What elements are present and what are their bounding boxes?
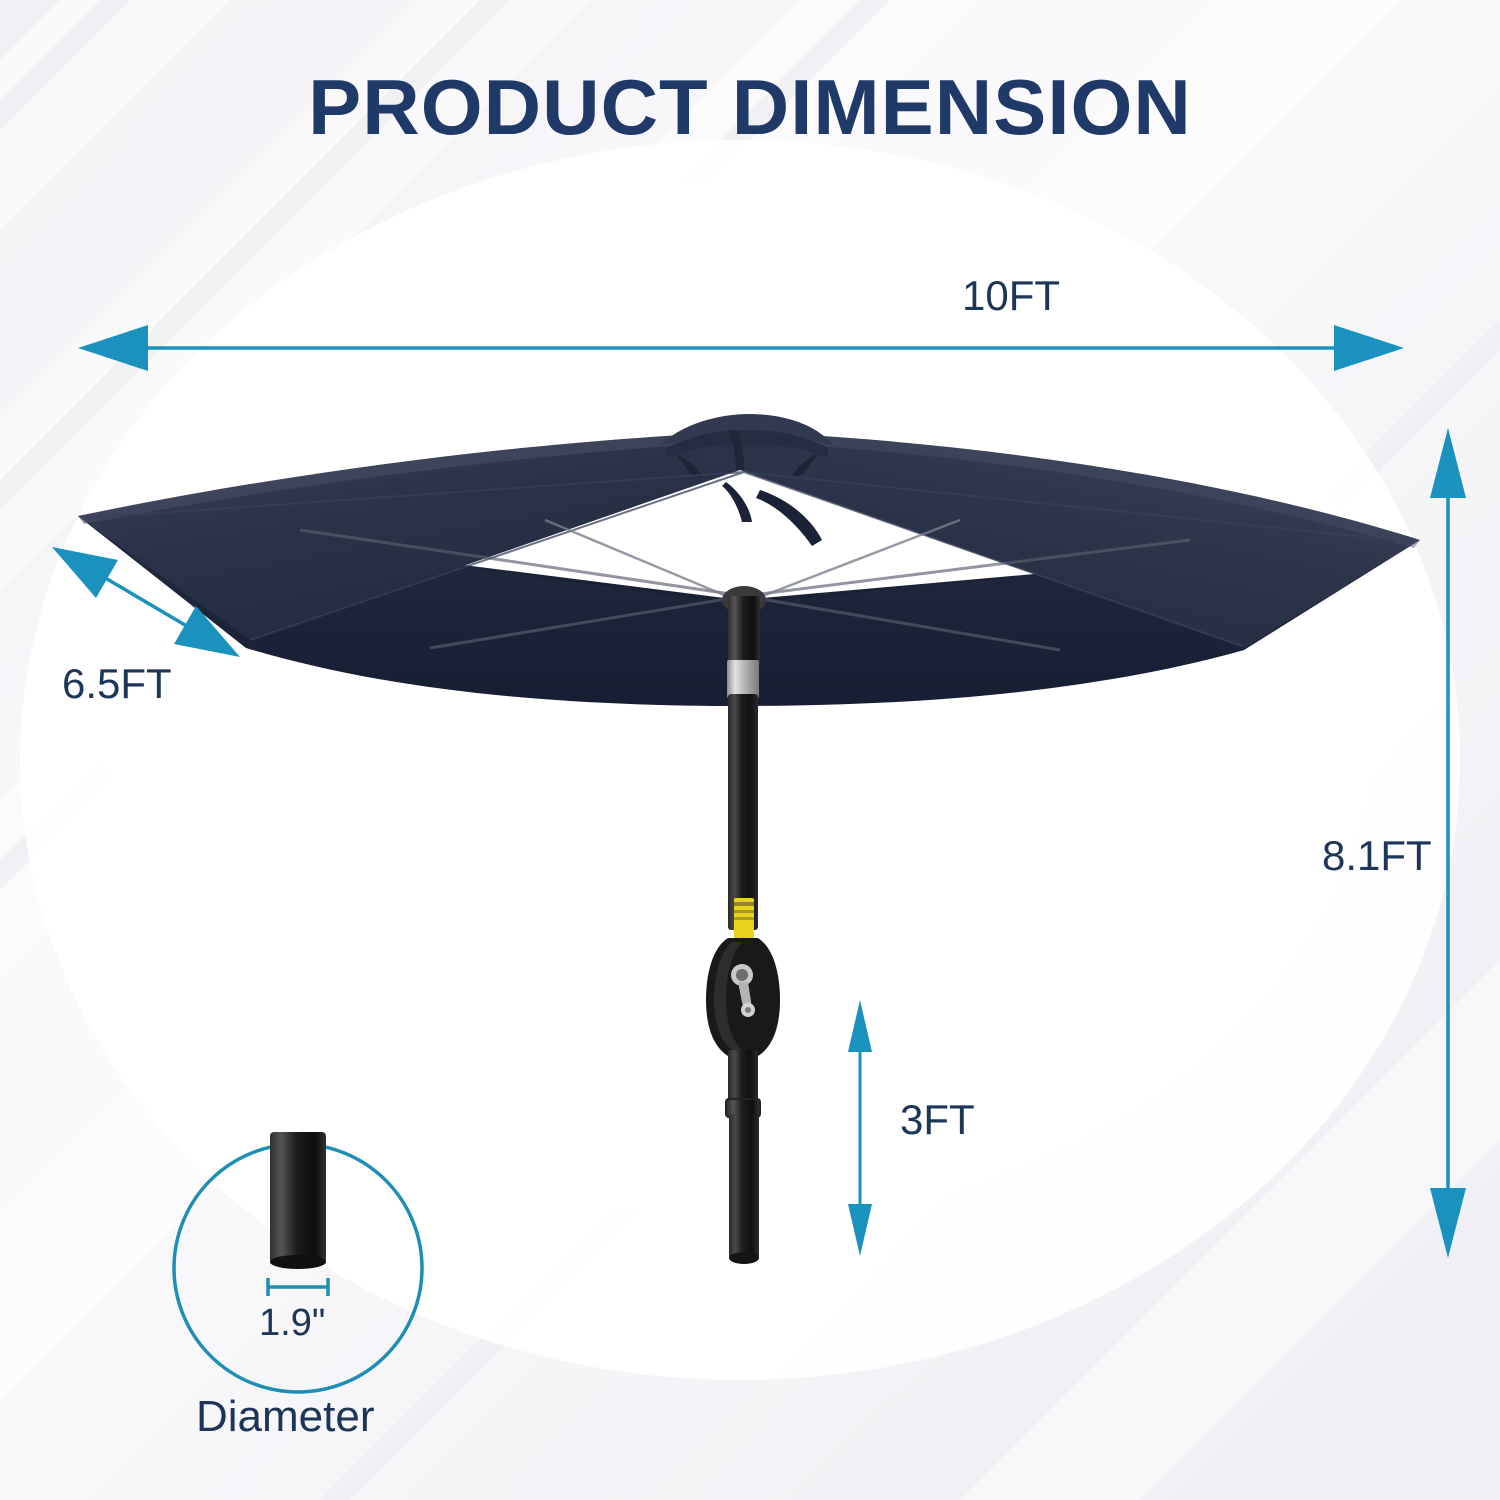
height-label: 8.1FT [1322, 832, 1432, 880]
clearance-label: 3FT [900, 1096, 975, 1144]
width-label: 10FT [962, 272, 1060, 320]
diameter-inset [174, 1132, 422, 1392]
inset-pole [270, 1132, 326, 1264]
pole-chrome-collar [727, 660, 759, 698]
width-arrow [78, 325, 1404, 371]
diameter-measure-label: 1.9" [259, 1302, 325, 1345]
height-arrow [1430, 428, 1466, 1258]
depth-label: 6.5FT [62, 660, 172, 708]
inset-measure-bar [268, 1278, 328, 1296]
diameter-caption: Diameter [196, 1392, 375, 1442]
clearance-arrow [848, 1000, 872, 1256]
product-dimension-graphic: PRODUCT DIMENSION [0, 0, 1500, 1500]
product-illustration [0, 0, 1500, 1500]
